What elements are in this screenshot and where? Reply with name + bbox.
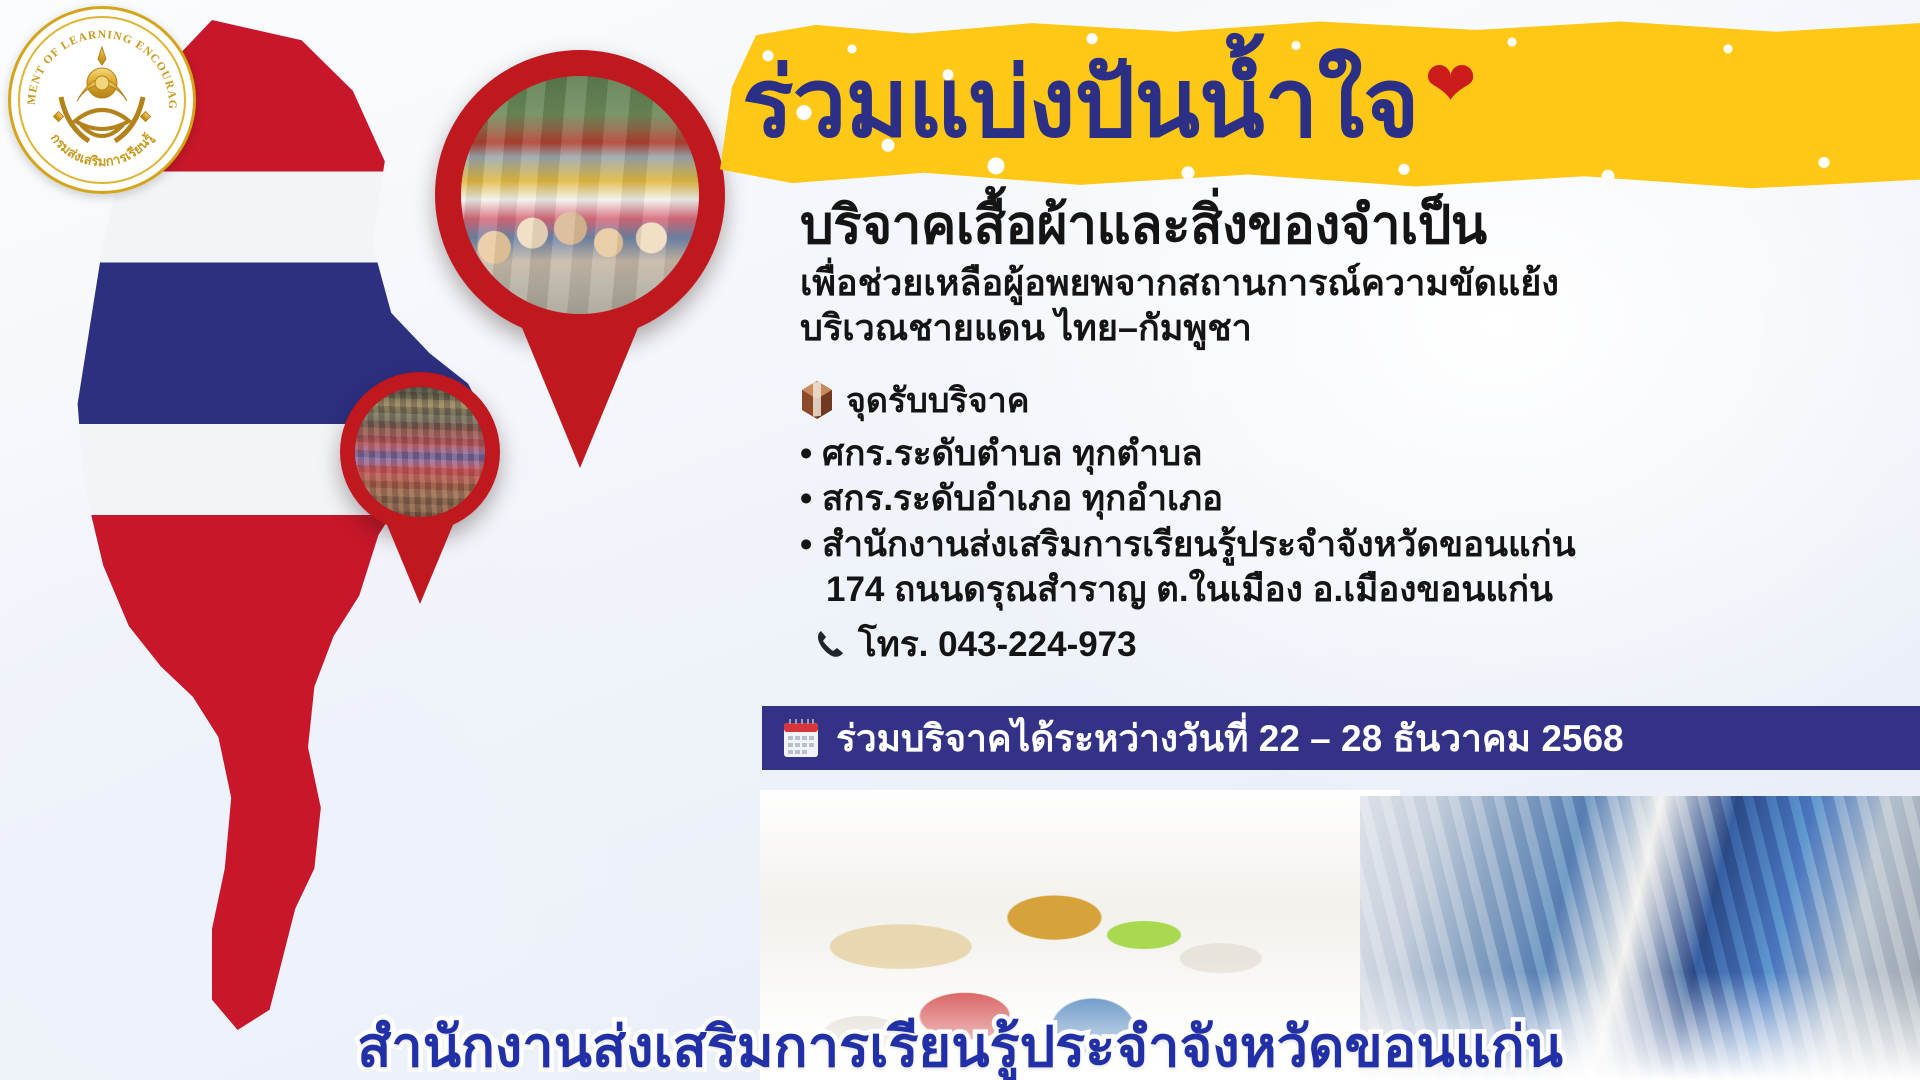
dropoff-heading: จุดรับบริจาค (800, 373, 1910, 427)
map-pin-photo-queue (435, 50, 725, 340)
calendar-icon (782, 717, 820, 759)
pin-bulb (340, 372, 500, 532)
donation-box-icon (800, 380, 834, 420)
list-item: • สำนักงานส่งเสริมการเรียนรู้ประจำจังหวั… (800, 522, 1910, 568)
phone-line: โทร. 043-224-973 (800, 617, 1910, 672)
heart-icon: ❤ (1425, 47, 1477, 120)
date-banner-text: ร่วมบริจาคได้ระหว่างวันที่ 22 – 28 ธันวา… (836, 709, 1624, 768)
subtext-line-2: บริเวณชายแดน ไทย–กัมพูชา (800, 306, 1910, 351)
map-pin-photo-shelter (340, 372, 500, 532)
content-column: บริจาคเสื้อผ้าและสิ่งของจำเป็น เพื่อช่วย… (800, 196, 1910, 672)
page-title: ร่วมแบ่งปันน้ำใจ ❤ (742, 30, 1912, 178)
pin-photo-queue (461, 76, 699, 314)
phone-number: โทร. 043-224-973 (858, 617, 1137, 672)
page-title-text: ร่วมแบ่งปันน้ำใจ (742, 56, 1419, 152)
dropoff-points-list: • ศกร.ระดับตำบล ทุกตำบล • สกร.ระดับอำเภอ… (800, 431, 1910, 613)
dropoff-label: จุดรับบริจาค (846, 373, 1029, 427)
footer-office-name: สำนักงานส่งเสริมการเรียนรู้ประจำจังหวัดข… (357, 1015, 1563, 1078)
headline-text: บริจาคเสื้อผ้าและสิ่งของจำเป็น (800, 196, 1910, 255)
list-item: • ศกร.ระดับตำบล ทุกตำบล (800, 431, 1910, 477)
pin-photo-shelter (355, 387, 485, 517)
photo-crowd-queue (461, 76, 699, 314)
office-address: 174 ถนนดรุณสำราญ ต.ในเมือง อ.เมืองขอนแก่… (800, 567, 1910, 613)
photo-evacuation-shelter (355, 387, 485, 517)
phone-icon (814, 628, 846, 660)
subtext-line-1: เพื่อช่วยเหลือผู้อพยพจากสถานการณ์ความขัด… (800, 261, 1910, 306)
royal-emblem-icon: DEPARTMENT OF LEARNING ENCOURAGEMENT กรม… (11, 9, 193, 191)
poster-canvas: DEPARTMENT OF LEARNING ENCOURAGEMENT กรม… (0, 0, 1920, 1080)
list-item: • สกร.ระดับอำเภอ ทุกอำเภอ (800, 476, 1910, 522)
date-banner: ร่วมบริจาคได้ระหว่างวันที่ 22 – 28 ธันวา… (762, 706, 1920, 770)
footer: สำนักงานส่งเสริมการเรียนรู้ประจำจังหวัดข… (0, 1002, 1920, 1080)
department-seal: DEPARTMENT OF LEARNING ENCOURAGEMENT กรม… (8, 6, 196, 194)
pin-bulb (435, 50, 725, 340)
